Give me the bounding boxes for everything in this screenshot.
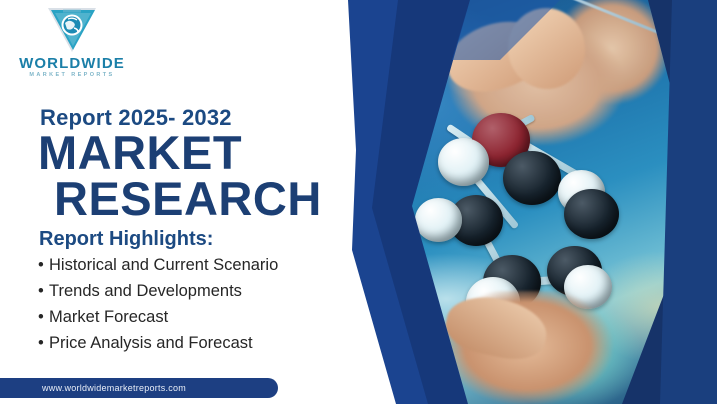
list-item-label: Price Analysis and Forecast — [49, 334, 253, 352]
logo-subtext: MARKET REPORTS — [18, 72, 126, 78]
hero-image-panel — [330, 0, 717, 404]
atom-carbon-3 — [564, 189, 618, 239]
bullet-icon: • — [38, 252, 49, 278]
atom-carbon-1 — [503, 151, 561, 205]
list-item-label: Market Forecast — [49, 308, 168, 326]
list-item: •Market Forecast — [38, 304, 278, 330]
list-item-label: Trends and Developments — [49, 282, 242, 300]
bullet-icon: • — [38, 304, 49, 330]
list-item: •Price Analysis and Forecast — [38, 330, 278, 356]
brand-logo[interactable]: WORLDWIDE MARKET REPORTS — [18, 6, 126, 82]
atom-hydrogen-1 — [438, 138, 489, 185]
website-url-bar[interactable]: www.worldwidemarketreports.com — [0, 378, 278, 398]
highlights-heading: Report Highlights: — [39, 228, 213, 251]
highlights-list: •Historical and Current Scenario •Trends… — [38, 252, 278, 356]
logo-wordmark: WORLDWIDE — [18, 56, 126, 72]
bullet-icon: • — [38, 278, 49, 304]
list-item: •Trends and Developments — [38, 278, 278, 304]
list-item: •Historical and Current Scenario — [38, 252, 278, 278]
bullet-icon: • — [38, 330, 49, 356]
page-title-line2: RESEARCH — [54, 176, 322, 222]
market-research-banner: WORLDWIDE MARKET REPORTS Report 2025- 20… — [0, 0, 717, 404]
page-title: MARKET RESEARCH — [38, 130, 322, 222]
worldwide-globe-triangle-logo-icon — [44, 6, 100, 56]
website-url-label: www.worldwidemarketreports.com — [42, 383, 186, 393]
list-item-label: Historical and Current Scenario — [49, 256, 278, 274]
content-column: WORLDWIDE MARKET REPORTS Report 2025- 20… — [0, 0, 340, 404]
